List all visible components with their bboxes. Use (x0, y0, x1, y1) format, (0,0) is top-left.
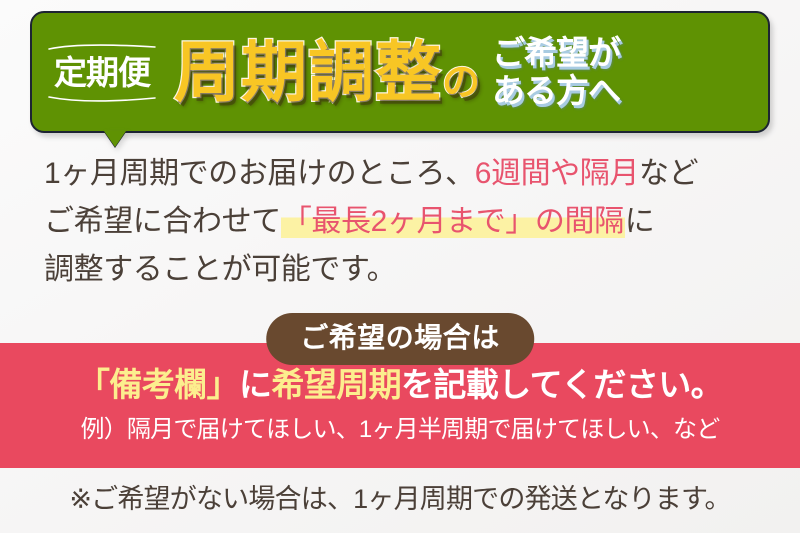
pink-main-text: 「備考欄」に希望周期を記載してください。 (0, 368, 800, 401)
main-title: 周期調整の (174, 39, 480, 105)
body-line1-part-c: など (639, 157, 698, 190)
header-content: 定期便 周期調整の ご希望が ある方へ (30, 11, 770, 133)
body-line-3: 調整することが可能です。 (44, 246, 764, 294)
footer-note: ※ご希望がない場合は、1ヶ月周期での発送となります。 (0, 486, 800, 513)
subscription-label: 定期便 (48, 43, 156, 102)
subscription-label-text: 定期便 (54, 54, 150, 91)
body-line-1: 1ヶ月周期でのお届けのところ、6週間や隔月など (44, 150, 764, 198)
header-subtitle-line2: ある方へ (492, 72, 620, 110)
promo-banner: 定期便 周期調整の ご希望が ある方へ 1ヶ月周期でのお届けのところ、6週間や隔… (0, 0, 800, 533)
body-line1-part-b: 6週間や隔月 (475, 157, 639, 190)
main-title-text: 周期調整 (174, 35, 442, 109)
header-section: 定期便 周期調整の ご希望が ある方へ (0, 0, 800, 160)
body-line2-part-c: に (625, 205, 655, 238)
body-line1-part-a: 1ヶ月周期でのお届けのところ、 (44, 157, 475, 190)
wave-rule-top-icon (48, 43, 156, 52)
pink-main-part-a: 「備考欄」 (77, 366, 239, 403)
pink-main-part-b: に (239, 366, 271, 403)
pink-main-part-c: 希望周期 (271, 366, 401, 403)
header-subtitle: ご希望が ある方へ (492, 34, 620, 109)
wave-rule-bottom-icon (48, 93, 156, 102)
body-description: 1ヶ月周期でのお届けのところ、6週間や隔月など ご希望に合わせて「最長2ヶ月まで… (44, 150, 764, 294)
speech-bubble-tail-icon (104, 131, 126, 147)
main-title-particle: の (442, 62, 480, 104)
body-line-2: ご希望に合わせて「最長2ヶ月まで」の間隔に (44, 198, 764, 246)
body-line2-highlight: 「最長2ヶ月まで」の間隔 (281, 205, 625, 238)
request-case-badge: ご希望の場合は (266, 313, 534, 365)
pink-main-part-d: を記載してください。 (401, 366, 723, 403)
body-line2-part-a: ご希望に合わせて (44, 205, 281, 238)
header-subtitle-line1: ご希望が (492, 34, 620, 72)
pink-example-text: 例）隔月で届けてほしい、1ヶ月半周期で届けてほしい、など (0, 418, 800, 442)
